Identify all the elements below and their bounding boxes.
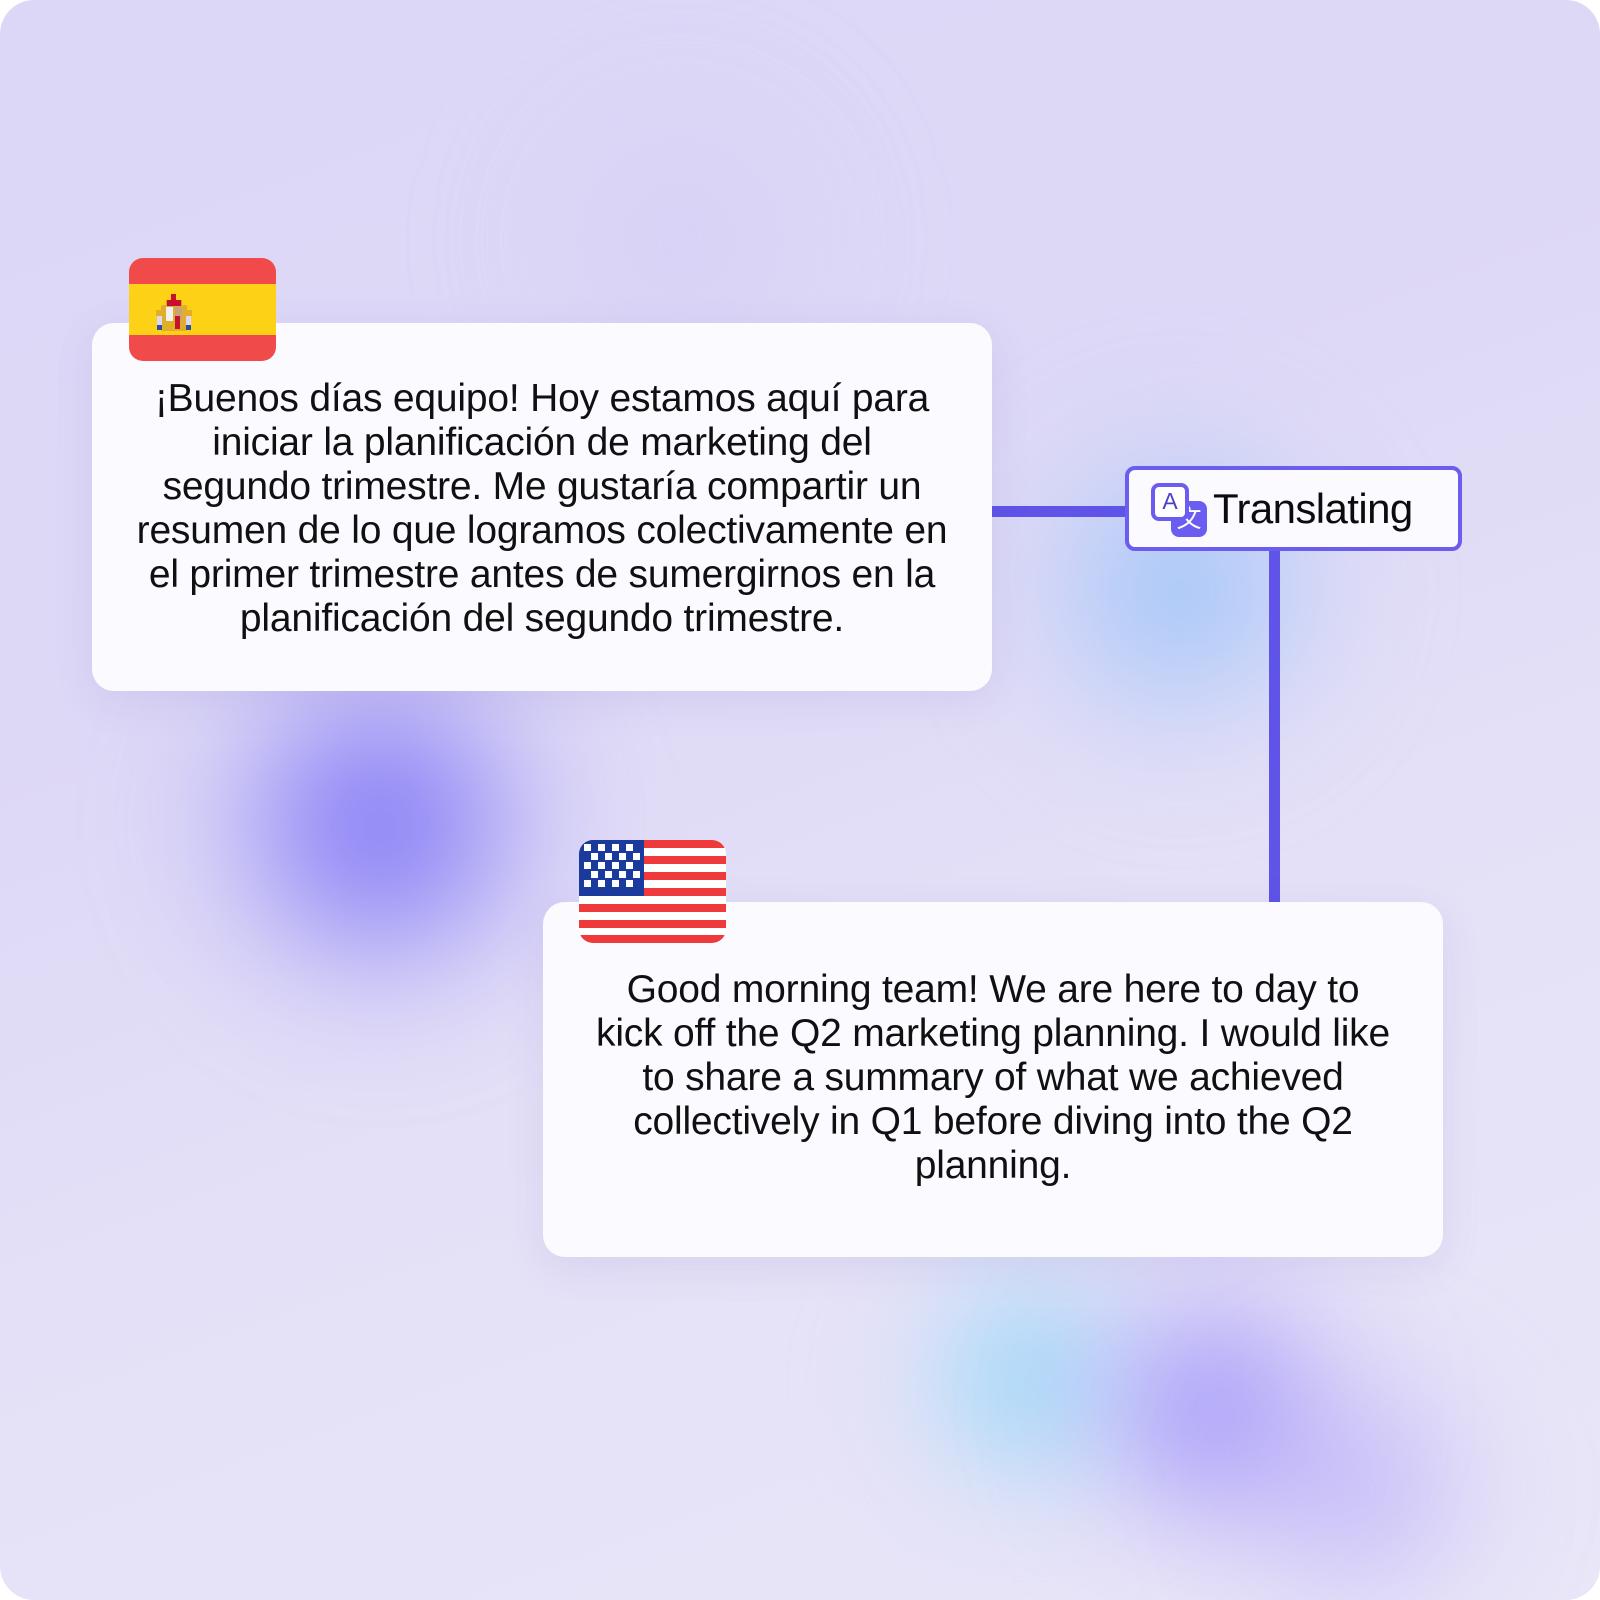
source-message-text: ¡Buenos días equipo! Hoy estamos aquí pa… <box>92 323 992 641</box>
background-glow-cyan-bottom <box>790 1215 1270 1545</box>
background-glow-violet-bottom-2 <box>1180 1340 1540 1600</box>
background-glow-violet-bottom <box>1000 1230 1430 1590</box>
target-message-text: Good morning team! We are here to day to… <box>543 902 1443 1188</box>
translate-icon: A 文 <box>1151 481 1207 537</box>
translate-icon-letter: A <box>1151 483 1189 521</box>
connector-line-vertical <box>1269 548 1280 948</box>
target-message-card[interactable]: Good morning team! We are here to day to… <box>543 902 1443 1257</box>
status-badge-translating[interactable]: A 文 Translating <box>1125 466 1462 551</box>
spain-flag-icon <box>129 258 276 361</box>
translation-canvas: ¡Buenos días equipo! Hoy estamos aquí pa… <box>0 0 1600 1600</box>
usa-flag-icon <box>579 840 726 943</box>
status-badge-label: Translating <box>1213 485 1413 533</box>
background-glow-blue-right <box>980 390 1380 790</box>
source-message-card[interactable]: ¡Buenos días equipo! Hoy estamos aquí pa… <box>92 323 992 691</box>
